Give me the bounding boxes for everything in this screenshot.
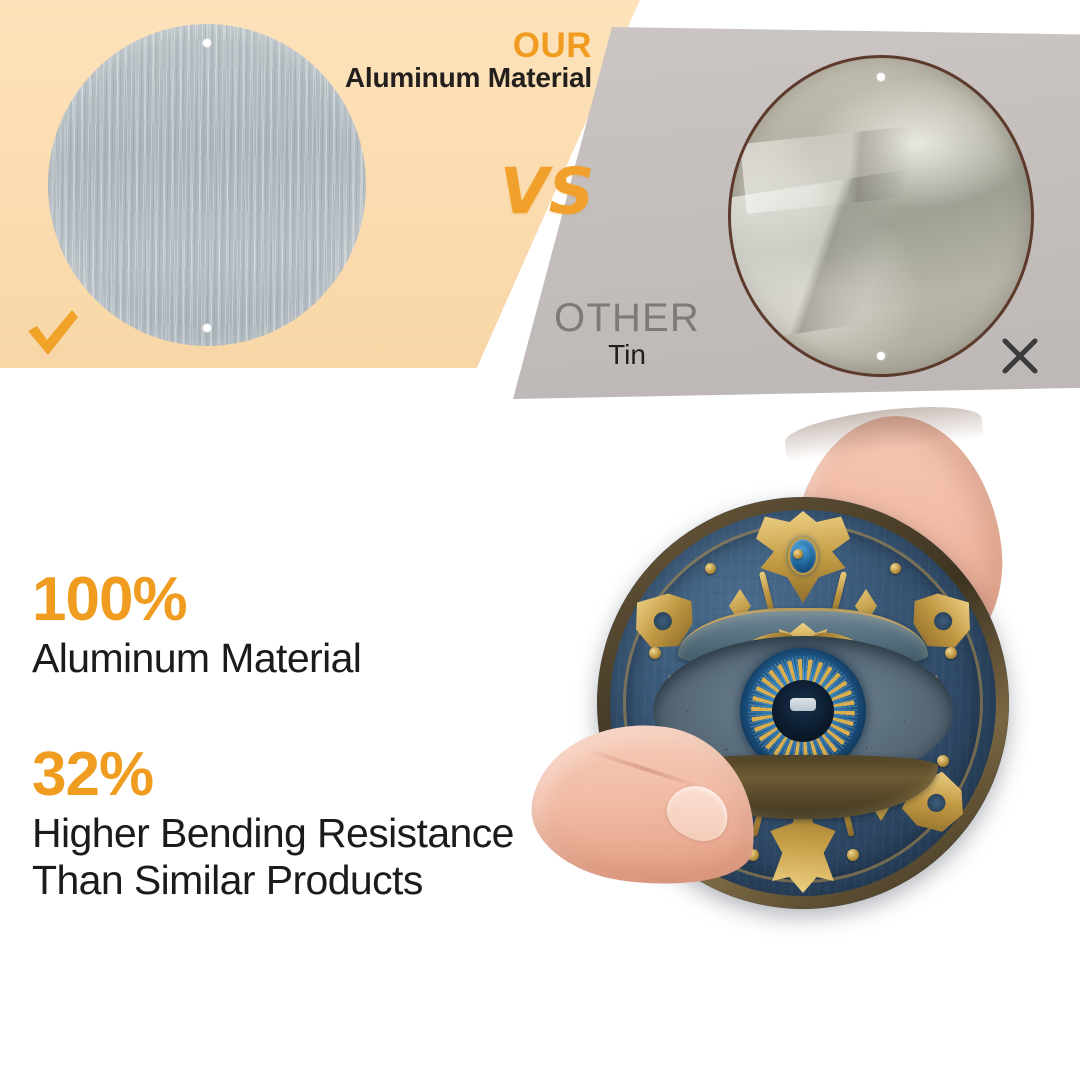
product-infographic: OUR Aluminum Material OTHER Tin VS 100% … [0, 0, 1080, 1080]
cross-icon [1000, 336, 1040, 376]
material-comparison-band: OUR Aluminum Material OTHER Tin VS [0, 0, 1080, 405]
eye-pupil [772, 680, 834, 742]
gold-stud [793, 549, 803, 559]
mounting-hole-top [877, 73, 885, 81]
our-subtitle: Aluminum Material [330, 64, 592, 92]
mounting-hole-bottom [877, 352, 885, 360]
our-title: OUR [330, 28, 592, 63]
pupil-highlight [790, 698, 816, 711]
tin-disc-image [728, 55, 1034, 377]
product-photo [525, 415, 1065, 960]
other-material-label: OTHER Tin [508, 298, 746, 369]
mounting-hole-bottom [203, 324, 211, 332]
tin-bend-crease [731, 58, 1031, 374]
mounting-hole-top [203, 39, 211, 47]
our-material-label: OUR Aluminum Material [330, 28, 592, 92]
gold-stud [705, 563, 716, 574]
check-icon [22, 300, 84, 362]
gold-stud [847, 849, 859, 861]
other-subtitle: Tin [508, 341, 746, 370]
gold-stud [890, 563, 901, 574]
other-title: OTHER [508, 298, 746, 339]
aluminum-disc-image [48, 24, 366, 346]
versus-badge: VS [500, 160, 594, 223]
